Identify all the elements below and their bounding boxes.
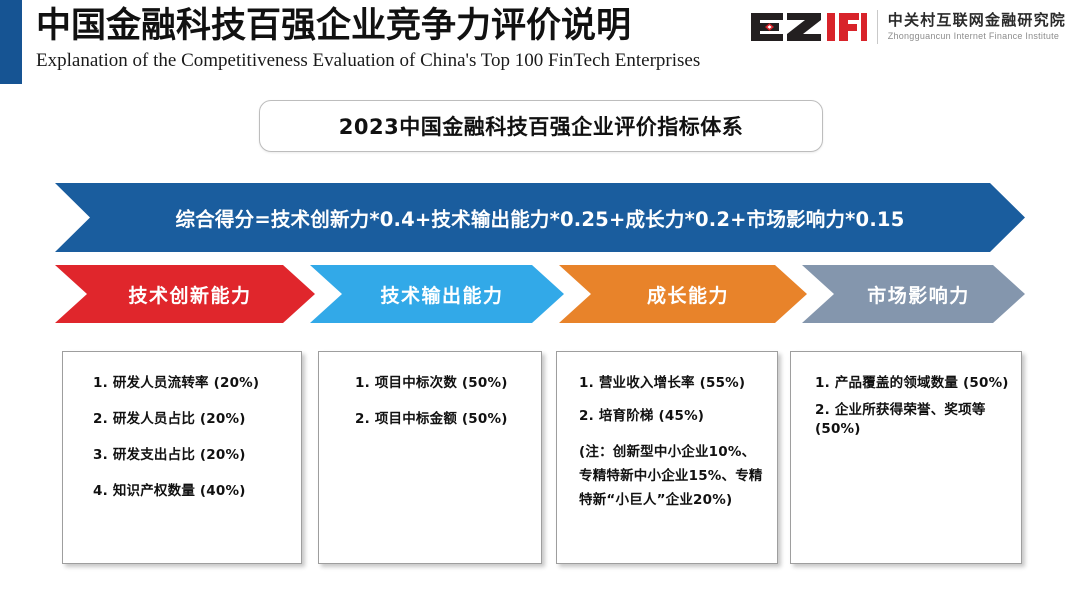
slide-header: 中国金融科技百强企业竞争力评价说明 Explanation of the Com… <box>0 0 1080 90</box>
indicator-box-tech-output: 1. 项目中标次数 (50%) 2. 项目中标金额 (50%) <box>318 351 542 564</box>
czifi-wordmark-icon <box>749 10 867 44</box>
indicator-box-row: 1. 研发人员流转率 (20%) 2. 研发人员占比 (20%) 3. 研发支出… <box>0 351 1080 569</box>
score-formula-text: 综合得分=技术创新力*0.4+技术输出能力*0.25+成长力*0.2+市场影响力… <box>176 203 905 232</box>
page-title: 中国金融科技百强企业竞争力评价说明 <box>36 4 700 48</box>
logo-text-block: 中关村互联网金融研究院 Zhongguancun Internet Financ… <box>888 13 1066 41</box>
dimension-chevron-market-influence: 市场影响力 <box>802 265 1025 323</box>
indicator-box-growth: 1. 营业收入增长率 (55%) 2. 培育阶梯 (45%) (注：创新型中小企… <box>556 351 778 564</box>
indicator-item: 3. 研发支出占比 (20%) <box>75 446 289 465</box>
dimension-chevron-tech-innovation: 技术创新能力 <box>55 265 315 323</box>
dimension-label: 技术创新能力 <box>118 281 251 308</box>
logo-name-en: Zhongguancun Internet Finance Institute <box>888 32 1066 41</box>
dimension-chevron-tech-output: 技术输出能力 <box>310 265 564 323</box>
indicator-item: 1. 项目中标次数 (50%) <box>331 374 529 393</box>
dimension-label: 技术输出能力 <box>370 281 503 308</box>
indicator-item: 1. 营业收入增长率 (55%) <box>569 374 765 393</box>
indicator-item: 1. 产品覆盖的领域数量 (50%) <box>803 374 1009 393</box>
dimension-label: 市场影响力 <box>857 281 970 308</box>
page-subtitle: Explanation of the Competitiveness Evalu… <box>36 48 700 74</box>
indicator-item: 2. 研发人员占比 (20%) <box>75 410 289 429</box>
indicator-item: 2. 培育阶梯 (45%) <box>569 407 765 426</box>
header-accent-bar <box>0 0 22 84</box>
indicator-note: (注：创新型中小企业10%、专精特新中小企业15%、专精特新“小巨人”企业20%… <box>569 440 765 512</box>
indicator-item: 2. 企业所获得荣誉、奖项等 (50%) <box>803 401 1009 439</box>
dimension-chevron-row: 技术创新能力 技术输出能力 成长能力 市场影响力 <box>0 265 1080 323</box>
score-formula-banner: 综合得分=技术创新力*0.4+技术输出能力*0.25+成长力*0.2+市场影响力… <box>55 183 1025 252</box>
dimension-label: 成长能力 <box>637 281 729 308</box>
dimension-chevron-growth: 成长能力 <box>559 265 807 323</box>
indicator-item: 1. 研发人员流转率 (20%) <box>75 374 289 393</box>
header-title-zone: 中国金融科技百强企业竞争力评价说明 Explanation of the Com… <box>36 4 700 74</box>
logo-name-cn: 中关村互联网金融研究院 <box>888 13 1066 28</box>
indicator-box-tech-innovation: 1. 研发人员流转率 (20%) 2. 研发人员占比 (20%) 3. 研发支出… <box>62 351 302 564</box>
section-title-box: 2023中国金融科技百强企业评价指标体系 <box>259 100 823 152</box>
institute-logo: 中关村互联网金融研究院 Zhongguancun Internet Financ… <box>749 10 1066 44</box>
indicator-item: 4. 知识产权数量 (40%) <box>75 482 289 501</box>
section-title-text: 2023中国金融科技百强企业评价指标体系 <box>339 111 743 141</box>
slide-root: 中国金融科技百强企业竞争力评价说明 Explanation of the Com… <box>0 0 1080 608</box>
indicator-item: 2. 项目中标金额 (50%) <box>331 410 529 429</box>
logo-divider <box>877 10 878 44</box>
indicator-box-market-influence: 1. 产品覆盖的领域数量 (50%) 2. 企业所获得荣誉、奖项等 (50%) <box>790 351 1022 564</box>
